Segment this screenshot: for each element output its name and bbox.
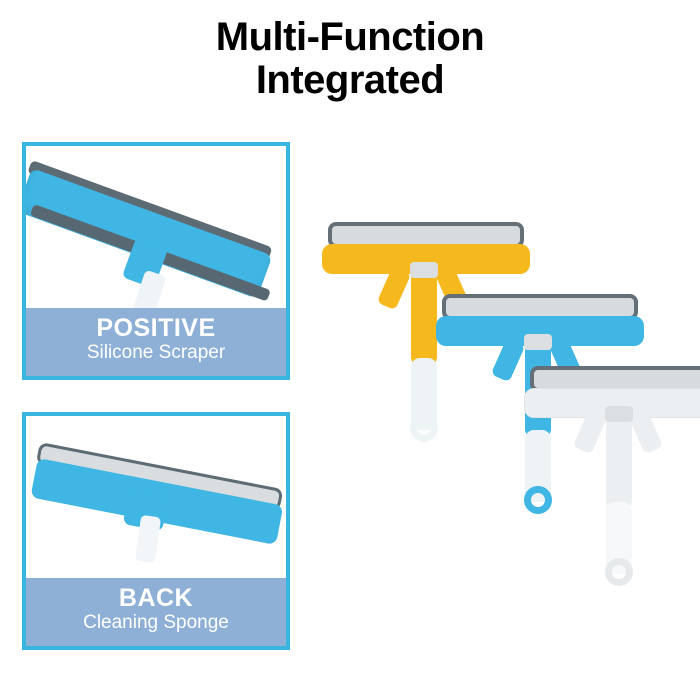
handle-upper bbox=[606, 414, 632, 510]
handle-collar bbox=[605, 406, 633, 422]
squeegee-sponge-side-illustration bbox=[26, 420, 286, 586]
feature-card-positive: POSITIVE Silicone Scraper bbox=[22, 142, 290, 380]
positive-heading: POSITIVE bbox=[26, 314, 286, 342]
squeegee-silicone-edge-illustration bbox=[26, 154, 286, 316]
handle-collar bbox=[410, 262, 438, 278]
positive-subheading: Silicone Scraper bbox=[26, 342, 286, 365]
back-subheading: Cleaning Sponge bbox=[26, 612, 286, 635]
positive-product-photo bbox=[26, 146, 286, 316]
title-line-2: Integrated bbox=[0, 59, 700, 102]
page-title: Multi-Function Integrated bbox=[0, 16, 700, 102]
feature-card-back: BACK Cleaning Sponge bbox=[22, 412, 290, 650]
back-caption: BACK Cleaning Sponge bbox=[26, 578, 286, 646]
positive-caption: POSITIVE Silicone Scraper bbox=[26, 308, 286, 376]
back-product-photo bbox=[26, 416, 286, 586]
product-squeegee-white bbox=[520, 362, 700, 602]
hanging-loop bbox=[605, 558, 633, 586]
back-heading: BACK bbox=[26, 584, 286, 612]
title-line-1: Multi-Function bbox=[216, 15, 484, 59]
handle-collar bbox=[524, 334, 552, 350]
